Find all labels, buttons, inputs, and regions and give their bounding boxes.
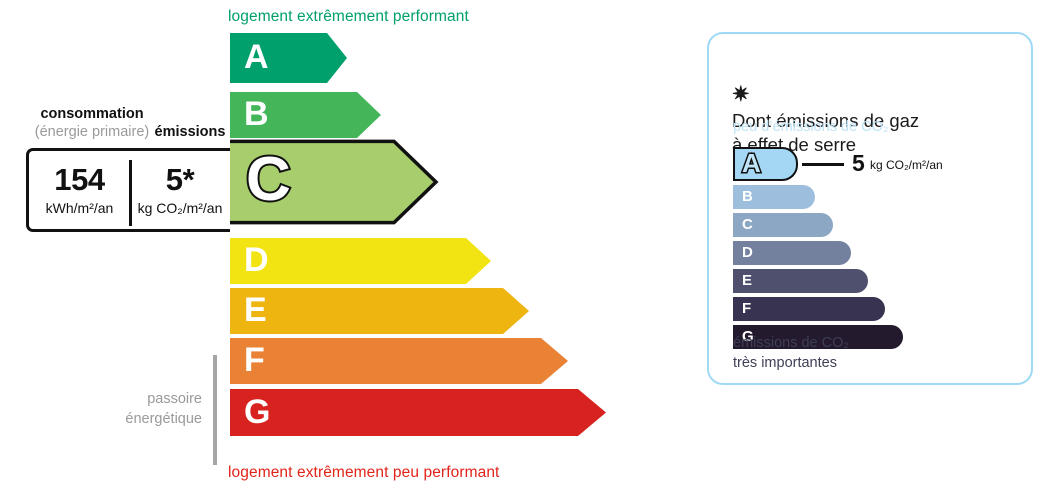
label-energie-primaire: (énergie primaire) (24, 124, 160, 140)
energy-band-d (230, 238, 491, 284)
ges-bar-e: E (733, 269, 868, 293)
energy-band-f (230, 338, 568, 384)
emission-cell: 5* kg CO₂/m²/an (131, 151, 229, 229)
consumption-cell: 154 kWh/m²/an (29, 151, 130, 229)
ges-bar-d: D (733, 241, 851, 265)
band-letter-f: F (244, 343, 265, 377)
ges-bar-letter-c: C (742, 217, 753, 232)
band-letter-c: C (246, 149, 291, 211)
label-consommation: consommation (28, 106, 156, 122)
passoire-marker-bar (213, 355, 217, 465)
ges-bar-f: F (733, 297, 885, 321)
band-letter-e: E (244, 293, 267, 327)
value-box: 154 kWh/m²/an 5* kg CO₂/m²/an (26, 148, 230, 232)
band-letter-a: A (244, 40, 269, 74)
energy-performance-scale: logement extrêmement performant ABCDEFG … (0, 0, 700, 488)
ges-bar-c: C (733, 213, 833, 237)
ges-bar-b: B (733, 185, 815, 209)
ges-title: ✷ Dont émissions de gaz à effet de serre (732, 56, 919, 158)
ges-bar-letter-e: E (742, 273, 752, 288)
ges-top-caption: peu d’émissions de CO₂ (733, 119, 889, 135)
ges-bar-letter-f: F (742, 301, 751, 316)
passoire-label: passoire énergétique (70, 390, 202, 429)
ges-bar-letter-b: B (742, 189, 753, 204)
band-letter-b: B (244, 97, 269, 131)
emission-unit: kg CO₂/m²/an (138, 201, 223, 216)
ges-bar-a: A (733, 147, 798, 181)
ges-bottom-caption: émissions de CO₂ très importantes (733, 334, 849, 373)
dpe-energy-label: logement extrêmement performant ABCDEFG … (0, 0, 1059, 488)
ges-panel: ✷ Dont émissions de gaz à effet de serre… (707, 32, 1033, 385)
consumption-unit: kWh/m²/an (46, 201, 114, 216)
energy-band-e (230, 288, 529, 334)
energy-band-g (230, 389, 606, 436)
ges-leader-line (802, 163, 844, 166)
label-emissions: émissions (150, 124, 230, 140)
band-letter-d: D (244, 243, 269, 277)
scale-bottom-caption: logement extrêmement peu performant (228, 464, 499, 482)
ges-bar-letter-a: A (742, 150, 761, 176)
band-letter-g: G (244, 394, 270, 428)
emission-value: 5* (166, 164, 195, 197)
ges-value: 5 (852, 152, 865, 175)
ges-bar-letter-d: D (742, 245, 753, 260)
ges-value-unit: kg CO₂/m²/an (870, 159, 943, 171)
consumption-value: 154 (54, 164, 105, 197)
asterisk-icon: ✷ (732, 83, 750, 106)
